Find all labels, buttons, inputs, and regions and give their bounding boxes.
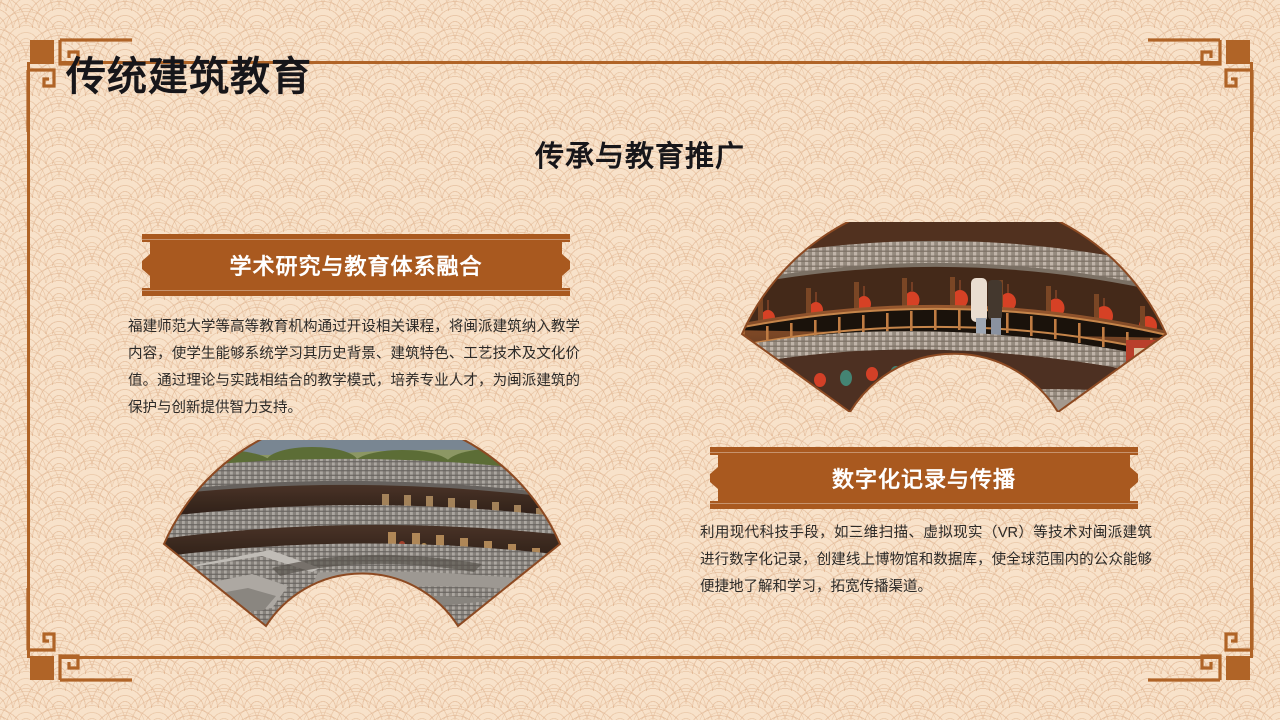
card-body-text-1: 福建师范大学等高等教育机构通过开设相关课程，将闽派建筑纳入教学内容，使学生能够系… bbox=[128, 314, 580, 422]
slide-canvas: 传统建筑教育 传承与教育推广 bbox=[0, 0, 1280, 720]
card-heading-banner-1: 学术研究与教育体系融合 bbox=[128, 234, 584, 296]
page-title: 传统建筑教育 bbox=[66, 57, 312, 97]
corner-ornament-icon bbox=[12, 588, 132, 708]
corner-ornament-icon bbox=[1148, 12, 1268, 132]
tulou-corridor-photo bbox=[728, 222, 1180, 412]
frame-line-bottom bbox=[60, 656, 1220, 659]
section-subtitle: 传承与教育推广 bbox=[0, 133, 1280, 175]
tulou-aerial-photo bbox=[152, 440, 572, 630]
card-heading-banner-2: 数字化记录与传播 bbox=[696, 447, 1152, 509]
card-heading-text-1: 学术研究与教育体系融合 bbox=[229, 249, 482, 281]
card-body-text-2: 利用现代科技手段，如三维扫描、虚拟现实（VR）等技术对闽派建筑进行数字化记录，创… bbox=[700, 520, 1152, 601]
card-heading-text-2: 数字化记录与传播 bbox=[832, 462, 1016, 494]
corner-ornament-icon bbox=[1148, 588, 1268, 708]
